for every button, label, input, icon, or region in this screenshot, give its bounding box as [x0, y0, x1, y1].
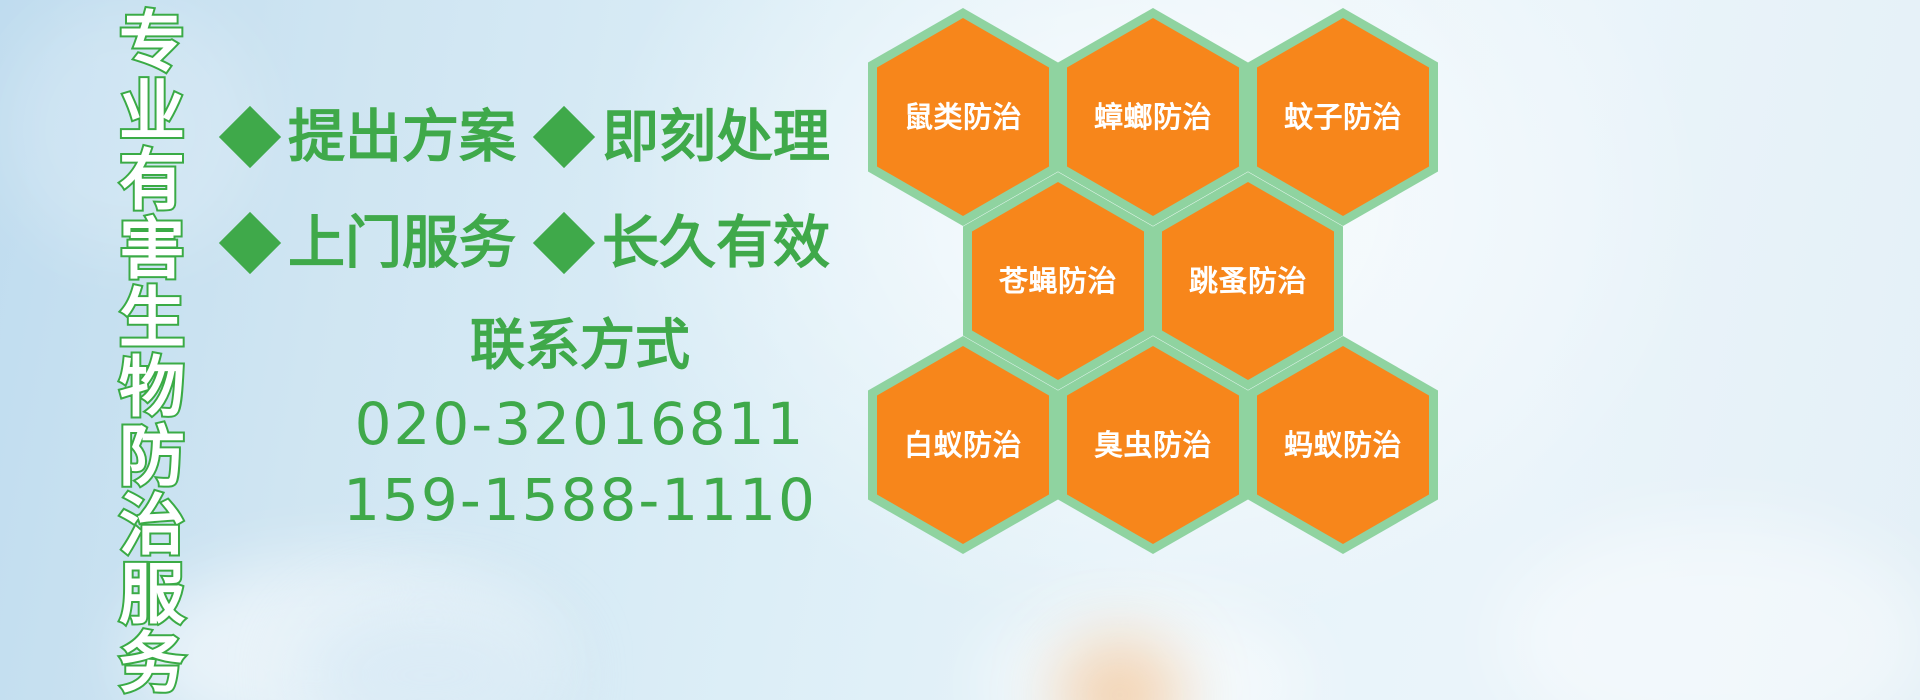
feature-row: 上门服务 长久有效 — [228, 190, 868, 296]
feature-item-long-lasting: 长久有效 — [542, 213, 830, 273]
contact-block: 联系方式 020-32016811 159-1588-1110 — [300, 312, 860, 538]
feature-label: 提出方案 — [288, 107, 516, 167]
diamond-bullet-icon — [219, 106, 281, 168]
background-blur-blob-left-2 — [300, 600, 560, 700]
service-hex-label: 蚂蚁防治 — [1284, 428, 1402, 462]
vertical-headline-char: 治 — [119, 491, 185, 560]
background-blur-blob-left — [130, 560, 550, 700]
feature-item-immediate-handling: 即刻处理 — [542, 107, 830, 167]
service-hex-label: 跳蚤防治 — [1189, 264, 1307, 298]
vertical-headline-char: 业 — [119, 77, 185, 146]
background-blur-blob-center — [980, 600, 1310, 700]
diamond-bullet-icon — [533, 106, 595, 168]
service-hex-label: 臭虫防治 — [1094, 428, 1212, 462]
feature-item-onsite-service: 上门服务 — [228, 213, 516, 273]
vertical-headline-char: 防 — [119, 422, 185, 491]
background-blur-blob-right — [1500, 520, 1920, 700]
feature-label: 长久有效 — [602, 213, 830, 273]
feature-label: 即刻处理 — [602, 107, 830, 167]
service-honeycomb: 鼠类防治 蟑螂防治 蚊子防治 苍蝇防治 跳蚤防治 白蚁防治 臭虫防治 — [862, 0, 1462, 570]
feature-row: 提出方案 即刻处理 — [228, 84, 868, 190]
vertical-headline-char: 专 — [119, 8, 185, 77]
service-hex-label: 蟑螂防治 — [1094, 100, 1212, 134]
contact-phone-mobile[interactable]: 159-1588-1110 — [300, 462, 860, 538]
vertical-headline: 专 业 有 害 生 物 防 治 服 务 — [104, 8, 200, 568]
vertical-headline-char: 服 — [119, 560, 185, 629]
vertical-headline-char: 有 — [119, 146, 185, 215]
diamond-bullet-icon — [219, 212, 281, 274]
contact-title: 联系方式 — [300, 312, 860, 378]
background-blur-blob-orange — [1060, 640, 1180, 700]
vertical-headline-char: 物 — [119, 353, 185, 422]
service-hex-label: 蚊子防治 — [1284, 100, 1402, 134]
service-hex-label: 苍蝇防治 — [999, 264, 1117, 298]
service-hex-label: 白蚁防治 — [904, 428, 1022, 462]
service-hex-label: 鼠类防治 — [904, 100, 1022, 134]
feature-item-propose-plan: 提出方案 — [228, 107, 516, 167]
diamond-bullet-icon — [533, 212, 595, 274]
vertical-headline-char: 生 — [119, 284, 185, 353]
feature-list: 提出方案 即刻处理 上门服务 长久有效 — [228, 84, 868, 296]
feature-label: 上门服务 — [288, 213, 516, 273]
vertical-headline-char: 害 — [119, 215, 185, 284]
vertical-headline-char: 务 — [119, 629, 185, 698]
promo-banner: 专 业 有 害 生 物 防 治 服 务 提出方案 即刻处理 上门服务 — [0, 0, 1920, 700]
contact-phone-landline[interactable]: 020-32016811 — [300, 386, 860, 462]
